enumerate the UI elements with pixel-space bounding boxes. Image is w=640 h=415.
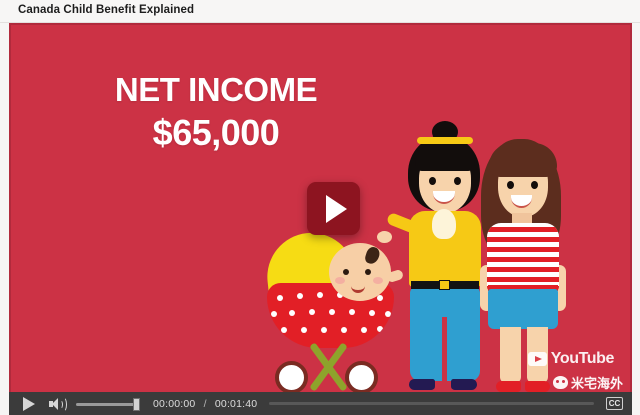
- wechat-icon: [553, 376, 568, 389]
- channel-label: 米宅海外: [571, 373, 623, 392]
- player-control-bar: 00:00:00 / 00:01:40 CC: [9, 392, 632, 415]
- channel-watermark: 米宅海外: [553, 373, 623, 392]
- woman1-hand: [377, 231, 392, 243]
- center-play-button[interactable]: [307, 182, 360, 235]
- woman1-headband: [417, 137, 473, 144]
- stroller-illustration: [255, 225, 401, 392]
- baby-eye-left: [343, 269, 349, 275]
- woman1-leg-split: [442, 317, 447, 381]
- stroller-wheel-left: [275, 361, 308, 392]
- current-time: 00:00:00: [153, 398, 195, 410]
- woman2-eye-left: [507, 181, 514, 189]
- woman2-eye-right: [531, 181, 538, 189]
- play-triangle-icon: [326, 195, 347, 223]
- volume-track: [76, 403, 139, 406]
- woman1-belt-buckle: [439, 280, 450, 290]
- baby-eye-right: [365, 269, 371, 275]
- video-stage[interactable]: NET INCOME $65,000: [11, 25, 630, 392]
- stroller-wheel-right: [345, 361, 378, 392]
- woman1-eye-left: [429, 177, 436, 185]
- woman2-shoe-left: [496, 381, 521, 392]
- video-headline: NET INCOME $65,000: [71, 73, 361, 151]
- headline-line-1: NET INCOME: [71, 73, 361, 106]
- woman1-shoe-right: [451, 379, 477, 390]
- video-player-frame: NET INCOME $65,000: [9, 23, 632, 415]
- volume-high-icon[interactable]: [49, 397, 65, 411]
- page-title: Canada Child Benefit Explained: [18, 4, 194, 16]
- woman2-fringe: [489, 143, 557, 177]
- baby-cheek-right: [373, 277, 383, 284]
- time-display: 00:00:00 / 00:01:40: [153, 398, 257, 410]
- woman2-shoe-right: [525, 381, 550, 392]
- progress-bar[interactable]: [269, 402, 594, 405]
- play-icon[interactable]: [23, 397, 35, 411]
- woman2-striped-top: [487, 223, 559, 291]
- woman2-skirt: [488, 289, 558, 329]
- woman1-scarf: [432, 209, 456, 239]
- youtube-watermark[interactable]: YouTube: [528, 350, 614, 368]
- youtube-play-icon: [528, 352, 547, 366]
- woman1-eye-right: [454, 177, 461, 185]
- baby-illustration: [329, 243, 395, 305]
- woman1-fringe: [415, 143, 475, 171]
- video-player-window: Canada Child Benefit Explained NET INCOM…: [0, 0, 640, 415]
- volume-handle[interactable]: [133, 398, 140, 411]
- woman2-leg-left: [500, 327, 521, 383]
- baby-cheek-left: [335, 277, 345, 284]
- woman1-shoe-left: [409, 379, 435, 390]
- closed-captions-button[interactable]: CC: [606, 397, 623, 410]
- time-separator: /: [204, 398, 207, 410]
- volume-slider[interactable]: [76, 397, 139, 411]
- youtube-label: YouTube: [551, 350, 614, 368]
- window-title-bar: Canada Child Benefit Explained: [0, 0, 640, 23]
- headline-line-2: $65,000: [71, 115, 361, 151]
- duration: 00:01:40: [215, 398, 257, 410]
